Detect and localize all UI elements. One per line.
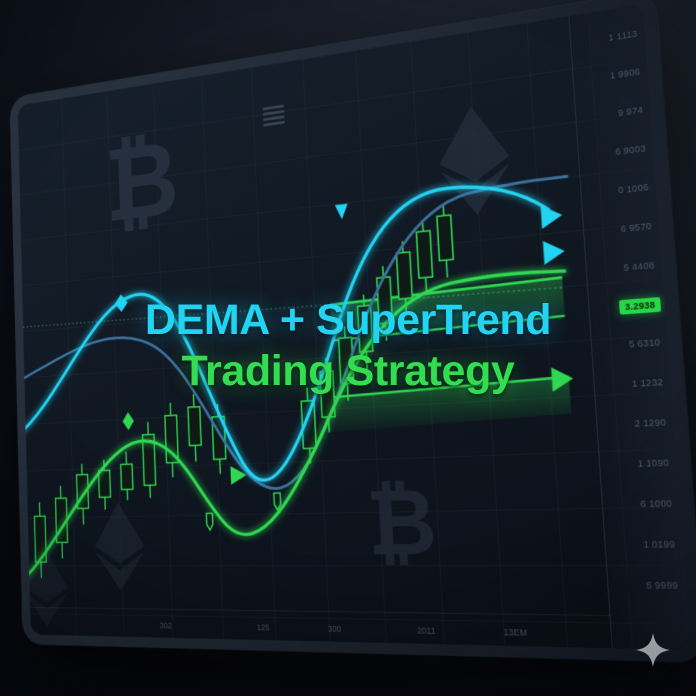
price-tick: 5 4408 — [623, 260, 655, 273]
device-frame-wrapper: ₿ ₿ — [0, 0, 696, 696]
sparkle-star-icon — [636, 633, 670, 672]
time-tick: 2011 — [417, 625, 436, 636]
current-price-tag: 3.2938 — [619, 297, 661, 315]
triangle-down-marker-icon — [335, 204, 349, 220]
dema-fast-line — [18, 177, 567, 487]
poster-canvas: ₿ ₿ — [0, 0, 696, 696]
diamond-marker-icon — [122, 412, 134, 430]
price-tick: 5 9999 — [646, 580, 679, 591]
price-tick: 9 974 — [618, 105, 644, 118]
price-tick: 1 0199 — [643, 539, 675, 550]
supertrend-band-lower — [324, 377, 572, 433]
price-tick: 1 9906 — [610, 66, 641, 80]
arrow-right-marker-icon — [543, 239, 566, 265]
time-axis[interactable]: 302 125 300 2011 13EM — [30, 607, 613, 648]
price-tick: 1 1113 — [608, 28, 637, 42]
arrow-down-marker-icon — [274, 493, 281, 510]
price-tick: 1 1232 — [632, 377, 664, 389]
arrow-right-marker-icon — [541, 203, 563, 229]
time-tick: 125 — [256, 623, 269, 633]
price-tick: 6 1000 — [640, 498, 672, 509]
tablet-device-frame: ₿ ₿ — [10, 0, 696, 663]
price-tick: 6 9570 — [620, 221, 651, 234]
diamond-marker-icon — [115, 294, 128, 313]
time-tick: 13EM — [503, 627, 527, 638]
chart-screen: ₿ ₿ — [18, 3, 691, 650]
time-tick: 302 — [160, 621, 172, 631]
price-tick: 0 1006 — [618, 182, 649, 196]
price-tick: 2 1290 — [634, 417, 666, 429]
price-tick: 1 1090 — [637, 457, 669, 469]
time-tick: 300 — [328, 624, 342, 634]
price-tick: 6 9003 — [615, 143, 646, 157]
price-tick: 5 6310 — [629, 337, 661, 349]
arrow-down-marker-icon — [206, 513, 213, 530]
